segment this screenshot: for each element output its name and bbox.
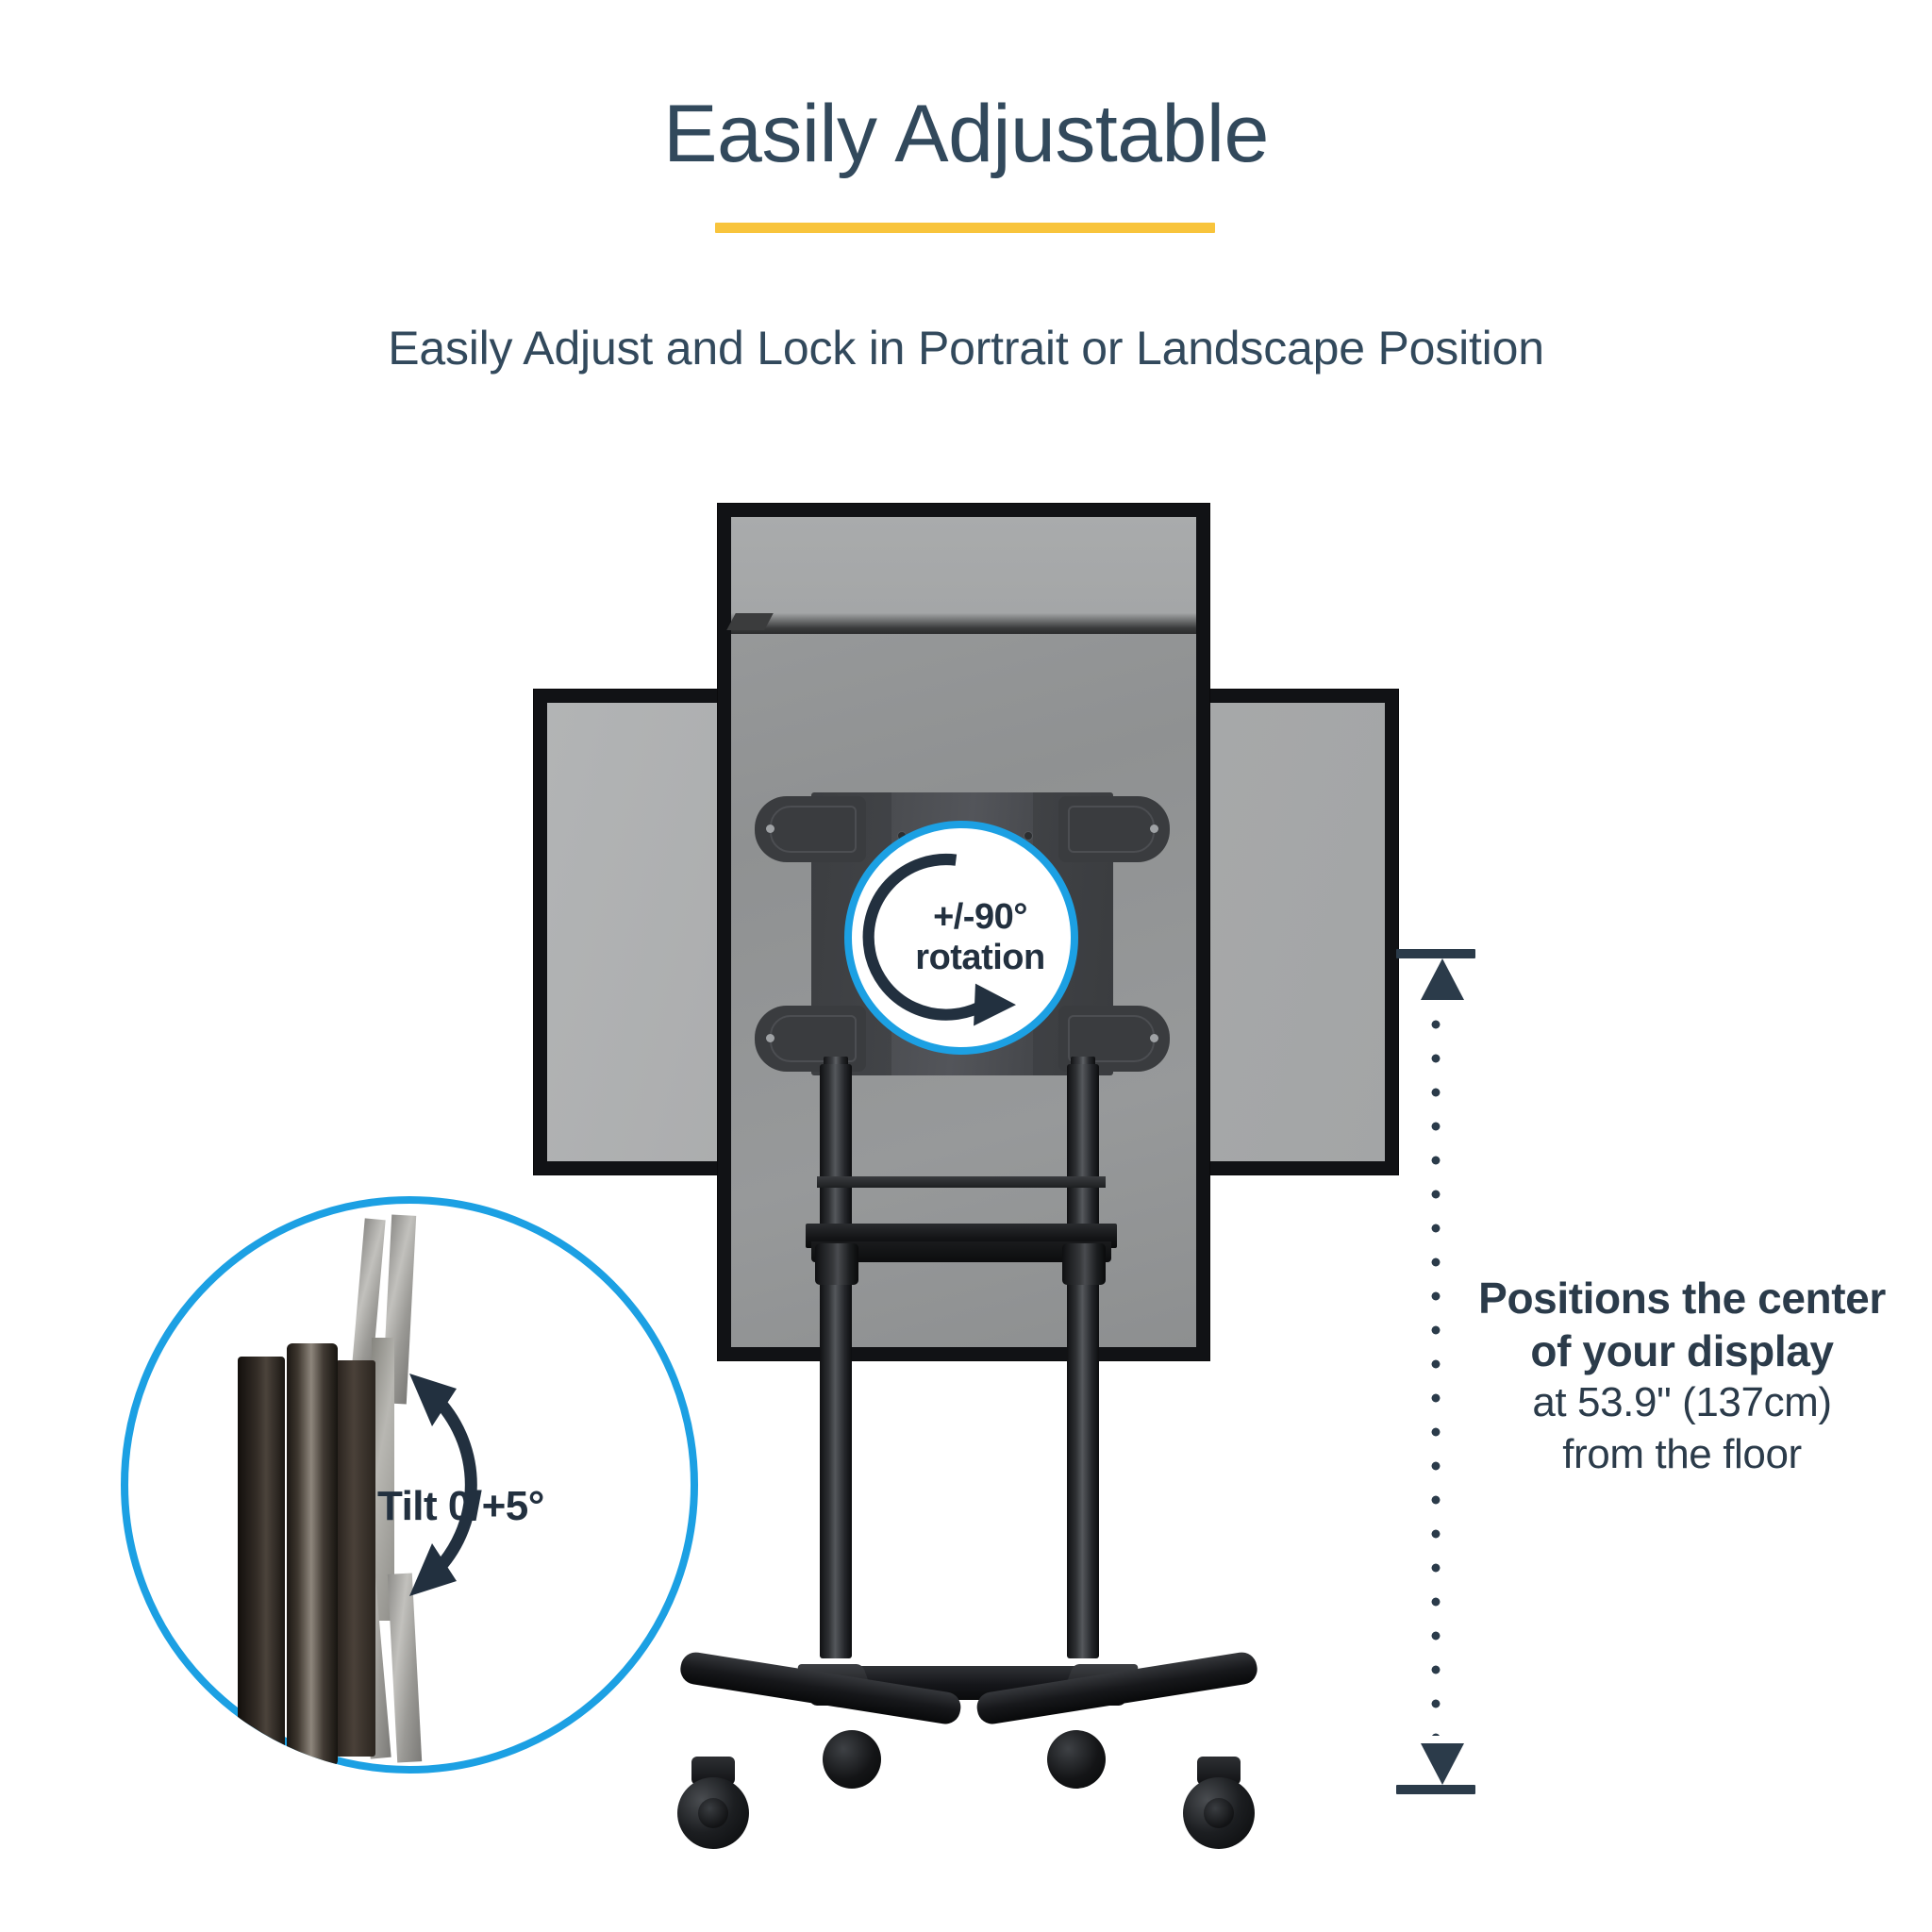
vesa-bracket-inner [1068,806,1155,853]
dimension-cap-bottom [1396,1785,1475,1794]
vesa-bracket-hole [766,1034,774,1042]
rotation-badge: +/-90° rotation [844,821,1078,1055]
rotation-badge-line2: rotation [915,938,1044,978]
vesa-bracket-inner [1068,1015,1155,1062]
vesa-bracket-inner [770,806,857,853]
dimension-cap-top [1396,949,1475,958]
vesa-bracket-hole [1150,1034,1158,1042]
dimension-caption-line4: from the floor [1460,1429,1904,1481]
cart-caster-front-left [677,1777,749,1849]
cart-base-leg-right [974,1650,1259,1726]
caster-hub-icon [698,1798,728,1828]
vesa-bracket-top-right [1058,796,1170,862]
vesa-bracket-inner [770,1015,857,1062]
arrow-up-icon [1421,958,1464,1000]
tilt-badge-label: Tilt 0/+5° [377,1483,670,1530]
rotation-badge-text: +/-90° rotation [915,897,1044,977]
vesa-bracket-bottom-left [755,1006,866,1072]
cart-pole-left [820,1064,852,1658]
vesa-bracket-hole [766,824,774,833]
cart-shelf-collar-right [1062,1243,1106,1285]
height-dimension-line [1413,949,1458,1794]
cart-shelf-surface [817,1176,1106,1188]
cart-caster-inner-left [823,1730,881,1789]
dimension-caption-line1: Positions the center [1460,1272,1904,1324]
dimension-caption-line2: of your display [1460,1324,1904,1377]
dimension-caption-line3: at 53.9" (137cm) [1460,1377,1904,1429]
arrow-down-icon [1421,1743,1464,1785]
cart-shelf-collar-left [815,1243,858,1285]
height-dimension-caption: Positions the center of your display at … [1460,1272,1904,1480]
vesa-bracket-top-left [755,796,866,862]
cart-pole-right [1067,1064,1099,1658]
rotation-badge-line1: +/-90° [915,897,1044,938]
cart-caster-front-right [1183,1777,1255,1849]
vesa-bracket-hole [1150,824,1158,833]
caster-hub-icon [1204,1798,1234,1828]
cart-base-leg-left [678,1650,963,1726]
dimension-dotted-line [1429,1008,1442,1736]
cart-caster-inner-right [1047,1730,1106,1789]
